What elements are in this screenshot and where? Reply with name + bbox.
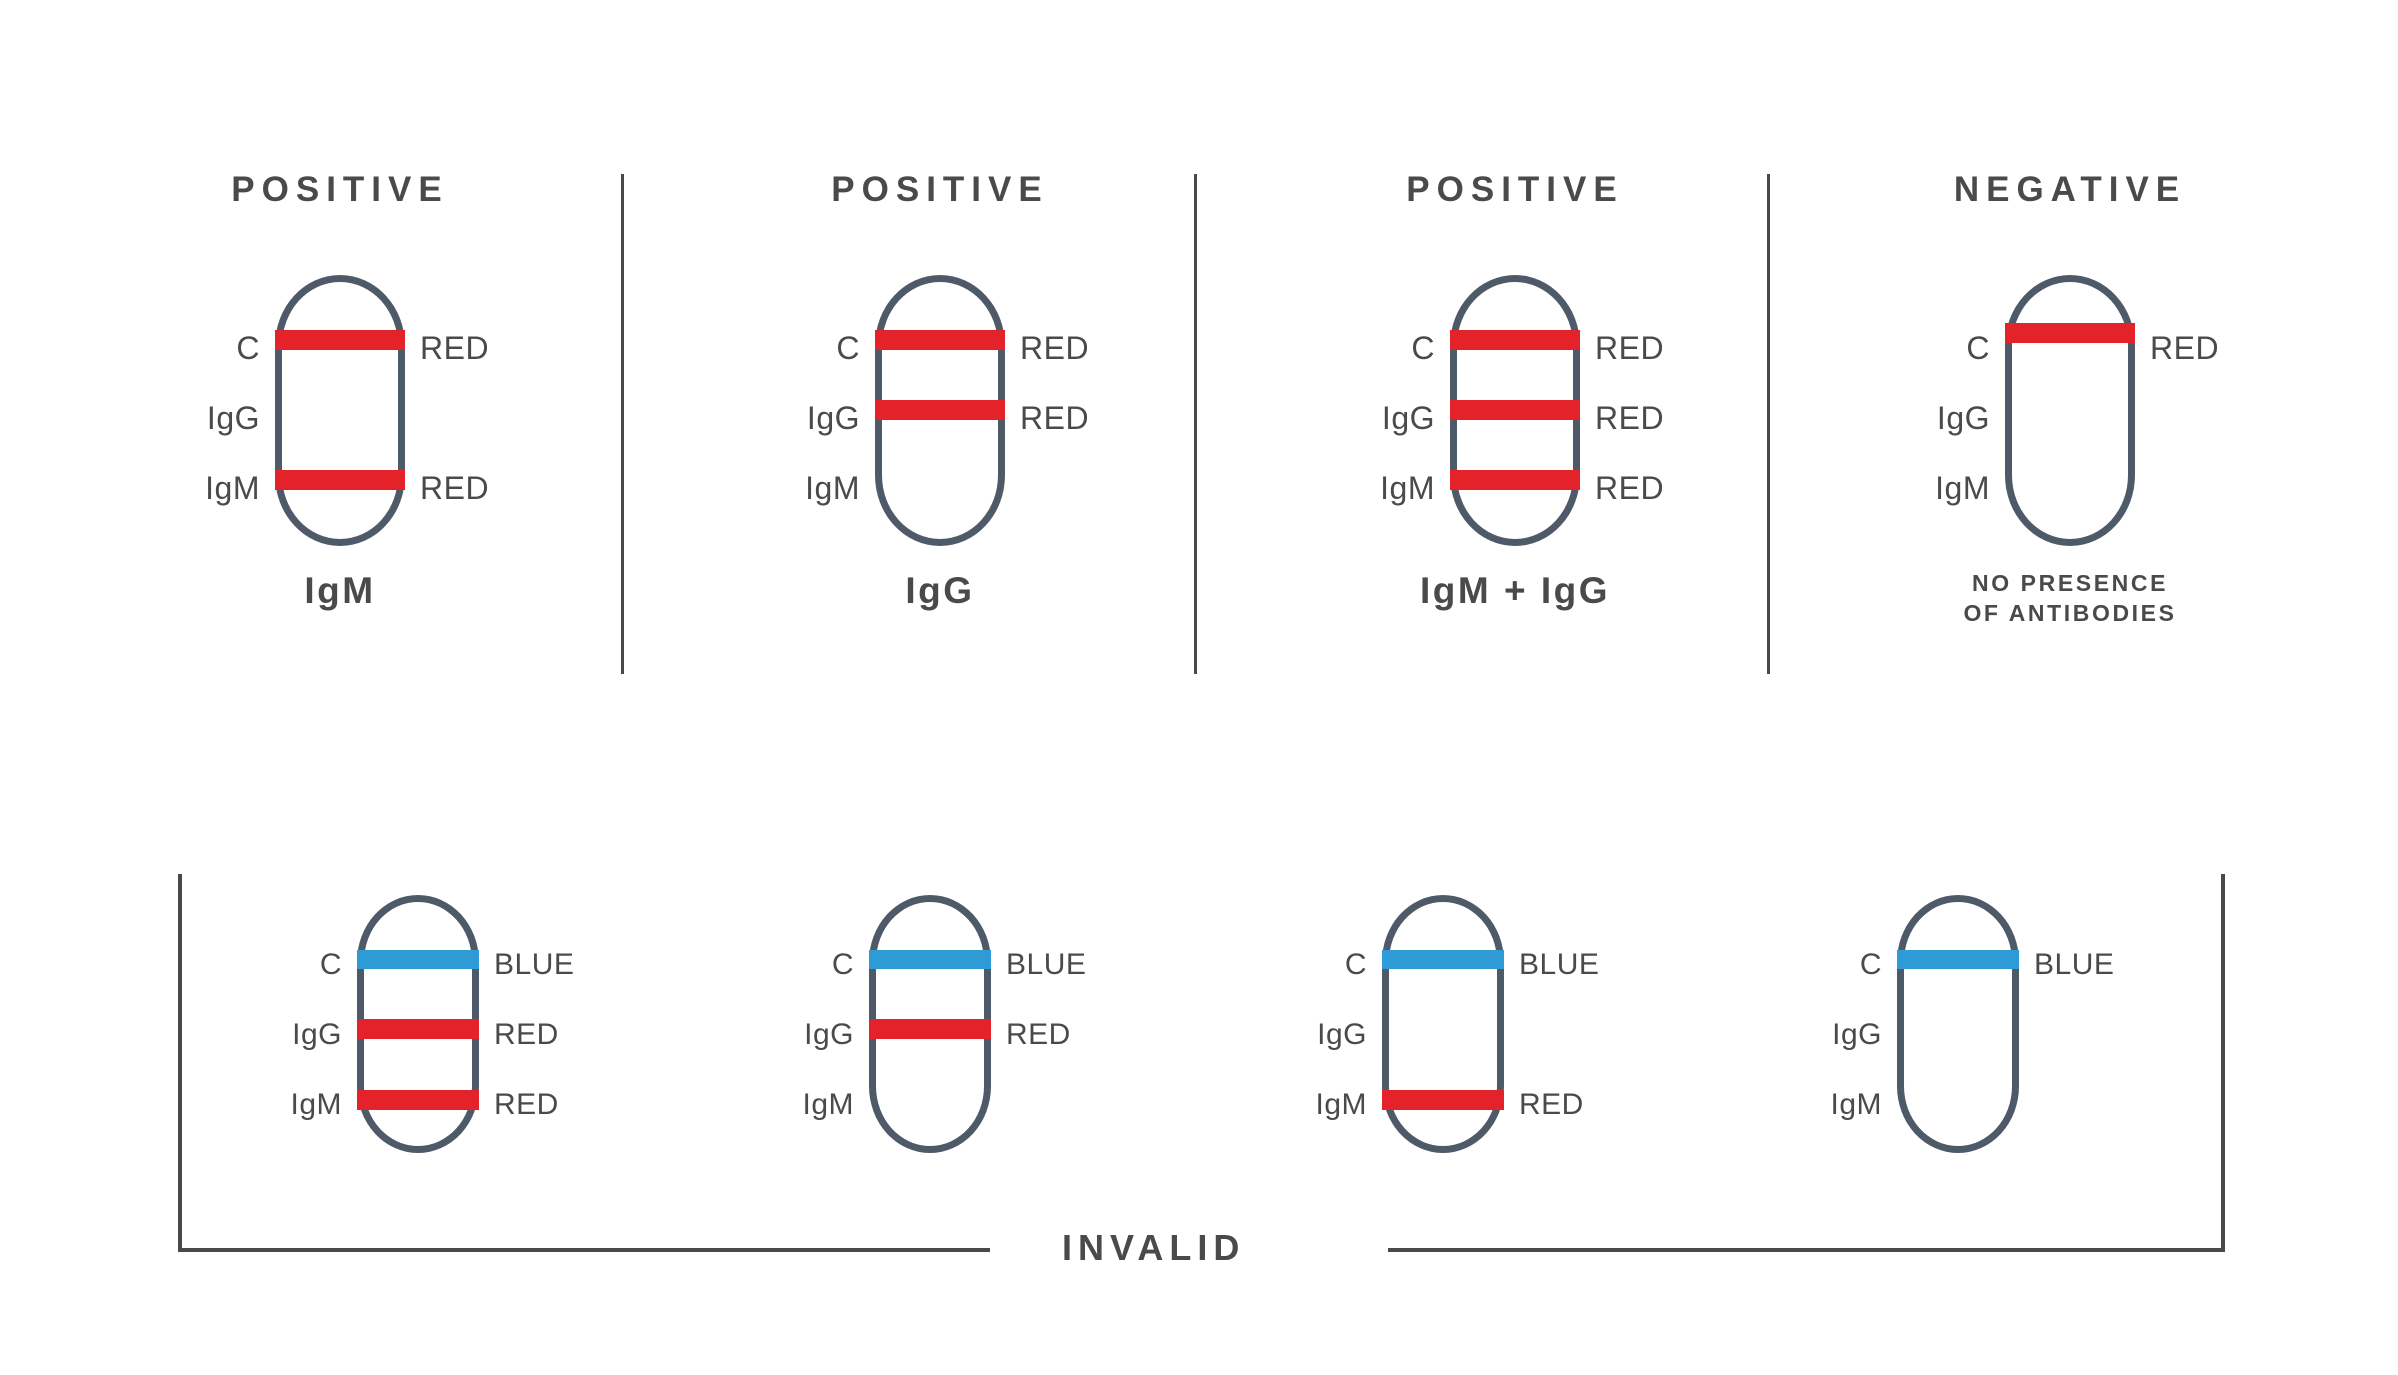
- row-label-igg: IgG: [1317, 1020, 1367, 1050]
- panel-caption: IgM: [60, 572, 620, 609]
- invalid-bracket-line-left: [178, 1248, 990, 1252]
- row-label-igm: IgM: [205, 472, 260, 504]
- band-igg-red: [357, 1019, 479, 1039]
- invalid-panel-4: C IgG IgM BLUE: [1700, 895, 2220, 1165]
- row-label-igg: IgG: [804, 1020, 854, 1050]
- invalid-bracket-right: [2221, 874, 2225, 1252]
- row-label-igm: IgM: [1830, 1090, 1882, 1120]
- invalid-panel-1: C IgG IgM BLUE RED RED: [160, 895, 680, 1165]
- row-label-igg: IgG: [207, 402, 260, 434]
- row-label-igm: IgM: [1380, 472, 1435, 504]
- panel-divider-3: [1767, 174, 1770, 674]
- row-label-igg: IgG: [1832, 1020, 1882, 1050]
- row-label-igm: IgM: [802, 1090, 854, 1120]
- result-panel-negative: NEGATIVE C IgG IgM RED NO PRESENCE OF AN…: [1790, 160, 2350, 680]
- band-igm-red: [357, 1090, 479, 1110]
- band-color-label-control: BLUE: [494, 950, 574, 980]
- row-label-igm: IgM: [1935, 472, 1990, 504]
- invalid-bracket-left: [178, 874, 182, 1252]
- row-label-control: C: [836, 332, 860, 364]
- panel-title: NEGATIVE: [1790, 172, 2350, 207]
- band-igg-red: [1450, 400, 1580, 420]
- band-control-blue: [869, 950, 991, 969]
- invalid-panel-3: C IgG IgM BLUE RED: [1185, 895, 1705, 1165]
- row-label-control: C: [832, 950, 854, 980]
- test-cassette: C IgG IgM RED: [2005, 275, 2135, 546]
- band-color-label-igm: RED: [1595, 472, 1664, 504]
- row-label-control: C: [1345, 950, 1367, 980]
- band-control-red: [275, 330, 405, 350]
- band-color-label-igg: RED: [1595, 402, 1664, 434]
- band-control-red: [1450, 330, 1580, 350]
- row-label-control: C: [320, 950, 342, 980]
- row-label-control: C: [1860, 950, 1882, 980]
- panel-caption-line2: OF ANTIBODIES: [1790, 598, 2350, 628]
- band-igg-red: [875, 400, 1005, 420]
- band-igm-red: [1382, 1090, 1504, 1110]
- row-label-control: C: [1411, 332, 1435, 364]
- band-color-label-igm: RED: [494, 1090, 559, 1120]
- row-label-igg: IgG: [1382, 402, 1435, 434]
- band-color-label-control: BLUE: [1006, 950, 1086, 980]
- result-panel-positive-igm-igg: POSITIVE C IgG IgM RED RED RED IgM + IgG: [1235, 160, 1795, 680]
- band-color-label-igg: RED: [1006, 1020, 1071, 1050]
- band-control-red: [2005, 323, 2135, 343]
- row-label-igg: IgG: [807, 402, 860, 434]
- band-color-label-igm: RED: [1519, 1090, 1584, 1120]
- band-control-blue: [357, 950, 479, 969]
- row-label-igg: IgG: [1937, 402, 1990, 434]
- band-color-label-igg: RED: [1020, 402, 1089, 434]
- band-control-blue: [1897, 950, 2019, 969]
- panel-title: POSITIVE: [660, 172, 1220, 207]
- band-color-label-control: RED: [2150, 332, 2219, 364]
- test-cassette: C IgG IgM RED RED: [875, 275, 1005, 546]
- band-color-label-control: RED: [420, 332, 489, 364]
- panel-caption: IgM + IgG: [1235, 572, 1795, 609]
- result-panel-positive-igm: POSITIVE C IgG IgM RED RED IgM: [60, 160, 620, 680]
- row-label-igm: IgM: [290, 1090, 342, 1120]
- band-color-label-control: BLUE: [1519, 950, 1599, 980]
- test-cassette: C IgG IgM BLUE: [1897, 895, 2019, 1153]
- result-panel-positive-igg: POSITIVE C IgG IgM RED RED IgG: [660, 160, 1220, 680]
- panel-divider-1: [621, 174, 624, 674]
- band-control-blue: [1382, 950, 1504, 969]
- band-color-label-igm: RED: [420, 472, 489, 504]
- band-color-label-control: RED: [1020, 332, 1089, 364]
- band-color-label-control: RED: [1595, 332, 1664, 364]
- panel-divider-2: [1194, 174, 1197, 674]
- panel-caption-line1: NO PRESENCE: [1790, 568, 2350, 598]
- invalid-panel-2: C IgG IgM BLUE RED: [672, 895, 1192, 1165]
- panel-title: POSITIVE: [1235, 172, 1795, 207]
- band-igg-red: [869, 1019, 991, 1039]
- band-color-label-igg: RED: [494, 1020, 559, 1050]
- band-igm-red: [275, 470, 405, 490]
- row-label-igm: IgM: [1315, 1090, 1367, 1120]
- invalid-bracket-line-right: [1388, 1248, 2225, 1252]
- test-cassette: C IgG IgM BLUE RED: [869, 895, 991, 1153]
- band-igm-red: [1450, 470, 1580, 490]
- band-control-red: [875, 330, 1005, 350]
- panel-caption: NO PRESENCE OF ANTIBODIES: [1790, 568, 2350, 629]
- test-cassette: C IgG IgM RED RED: [275, 275, 405, 546]
- row-label-control: C: [1966, 332, 1990, 364]
- row-label-igm: IgM: [805, 472, 860, 504]
- panel-title: POSITIVE: [60, 172, 620, 207]
- row-label-control: C: [236, 332, 260, 364]
- test-cassette: C IgG IgM RED RED RED: [1450, 275, 1580, 546]
- test-cassette: C IgG IgM BLUE RED RED: [357, 895, 479, 1153]
- row-label-igg: IgG: [292, 1020, 342, 1050]
- invalid-group-label: INVALID: [1062, 1230, 1245, 1266]
- test-cassette: C IgG IgM BLUE RED: [1382, 895, 1504, 1153]
- band-color-label-control: BLUE: [2034, 950, 2114, 980]
- panel-caption: IgG: [660, 572, 1220, 609]
